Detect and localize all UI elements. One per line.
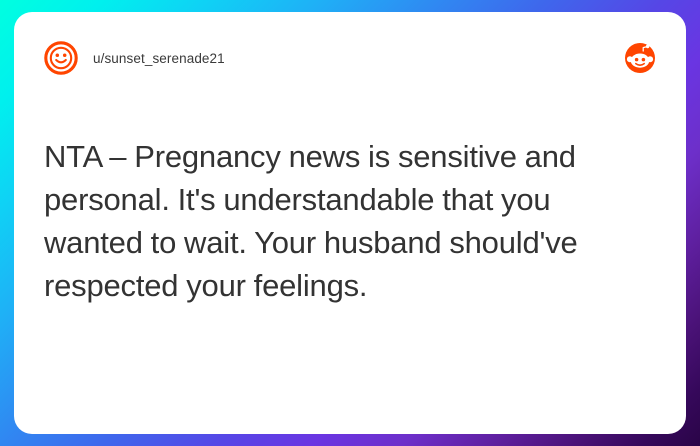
gradient-background: u/sunset_serenade21 xyxy=(0,0,700,446)
username-label: u/sunset_serenade21 xyxy=(93,51,225,66)
reddit-comment-card: u/sunset_serenade21 xyxy=(14,12,686,434)
brand-logo[interactable] xyxy=(624,42,656,74)
card-header: u/sunset_serenade21 xyxy=(44,38,656,78)
smiley-face-avatar-icon xyxy=(44,41,78,75)
post-body-text: NTA – Pregnancy news is sensitive and pe… xyxy=(44,135,656,307)
reddit-snoo-icon xyxy=(624,42,656,74)
avatar[interactable] xyxy=(44,41,78,75)
